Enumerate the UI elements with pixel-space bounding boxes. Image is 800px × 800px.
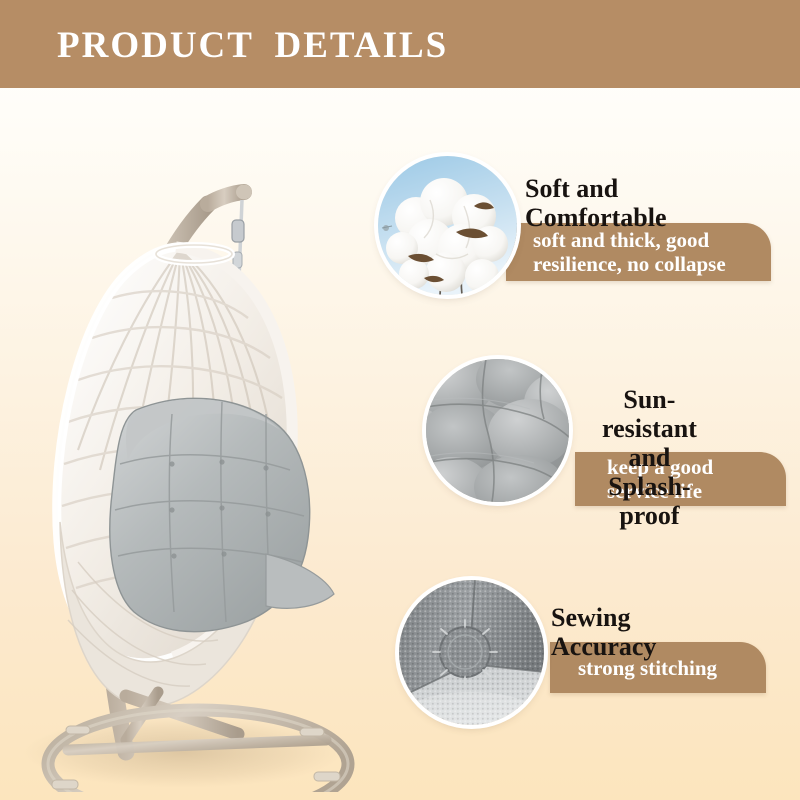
stitch-button bbox=[433, 620, 497, 684]
feature-1-banner-text: soft and thick, good resilience, no coll… bbox=[533, 228, 726, 276]
product-photo-hanging-chair bbox=[8, 92, 378, 792]
feature-3-title: Sewing Accuracy bbox=[551, 603, 656, 661]
product-details-page: PRODUCT DETAILS bbox=[0, 0, 800, 800]
header-banner: PRODUCT DETAILS bbox=[0, 0, 800, 88]
page-title: PRODUCT DETAILS bbox=[57, 24, 448, 67]
tufted-cushion-closeup-photo bbox=[426, 359, 569, 502]
stitching-closeup-photo bbox=[399, 580, 544, 725]
feature-2-title: Sun-resistant and Splash-proof bbox=[602, 385, 697, 530]
feature-1-title: Soft and Comfortable bbox=[525, 174, 667, 232]
cotton-bolls-photo bbox=[378, 156, 517, 295]
